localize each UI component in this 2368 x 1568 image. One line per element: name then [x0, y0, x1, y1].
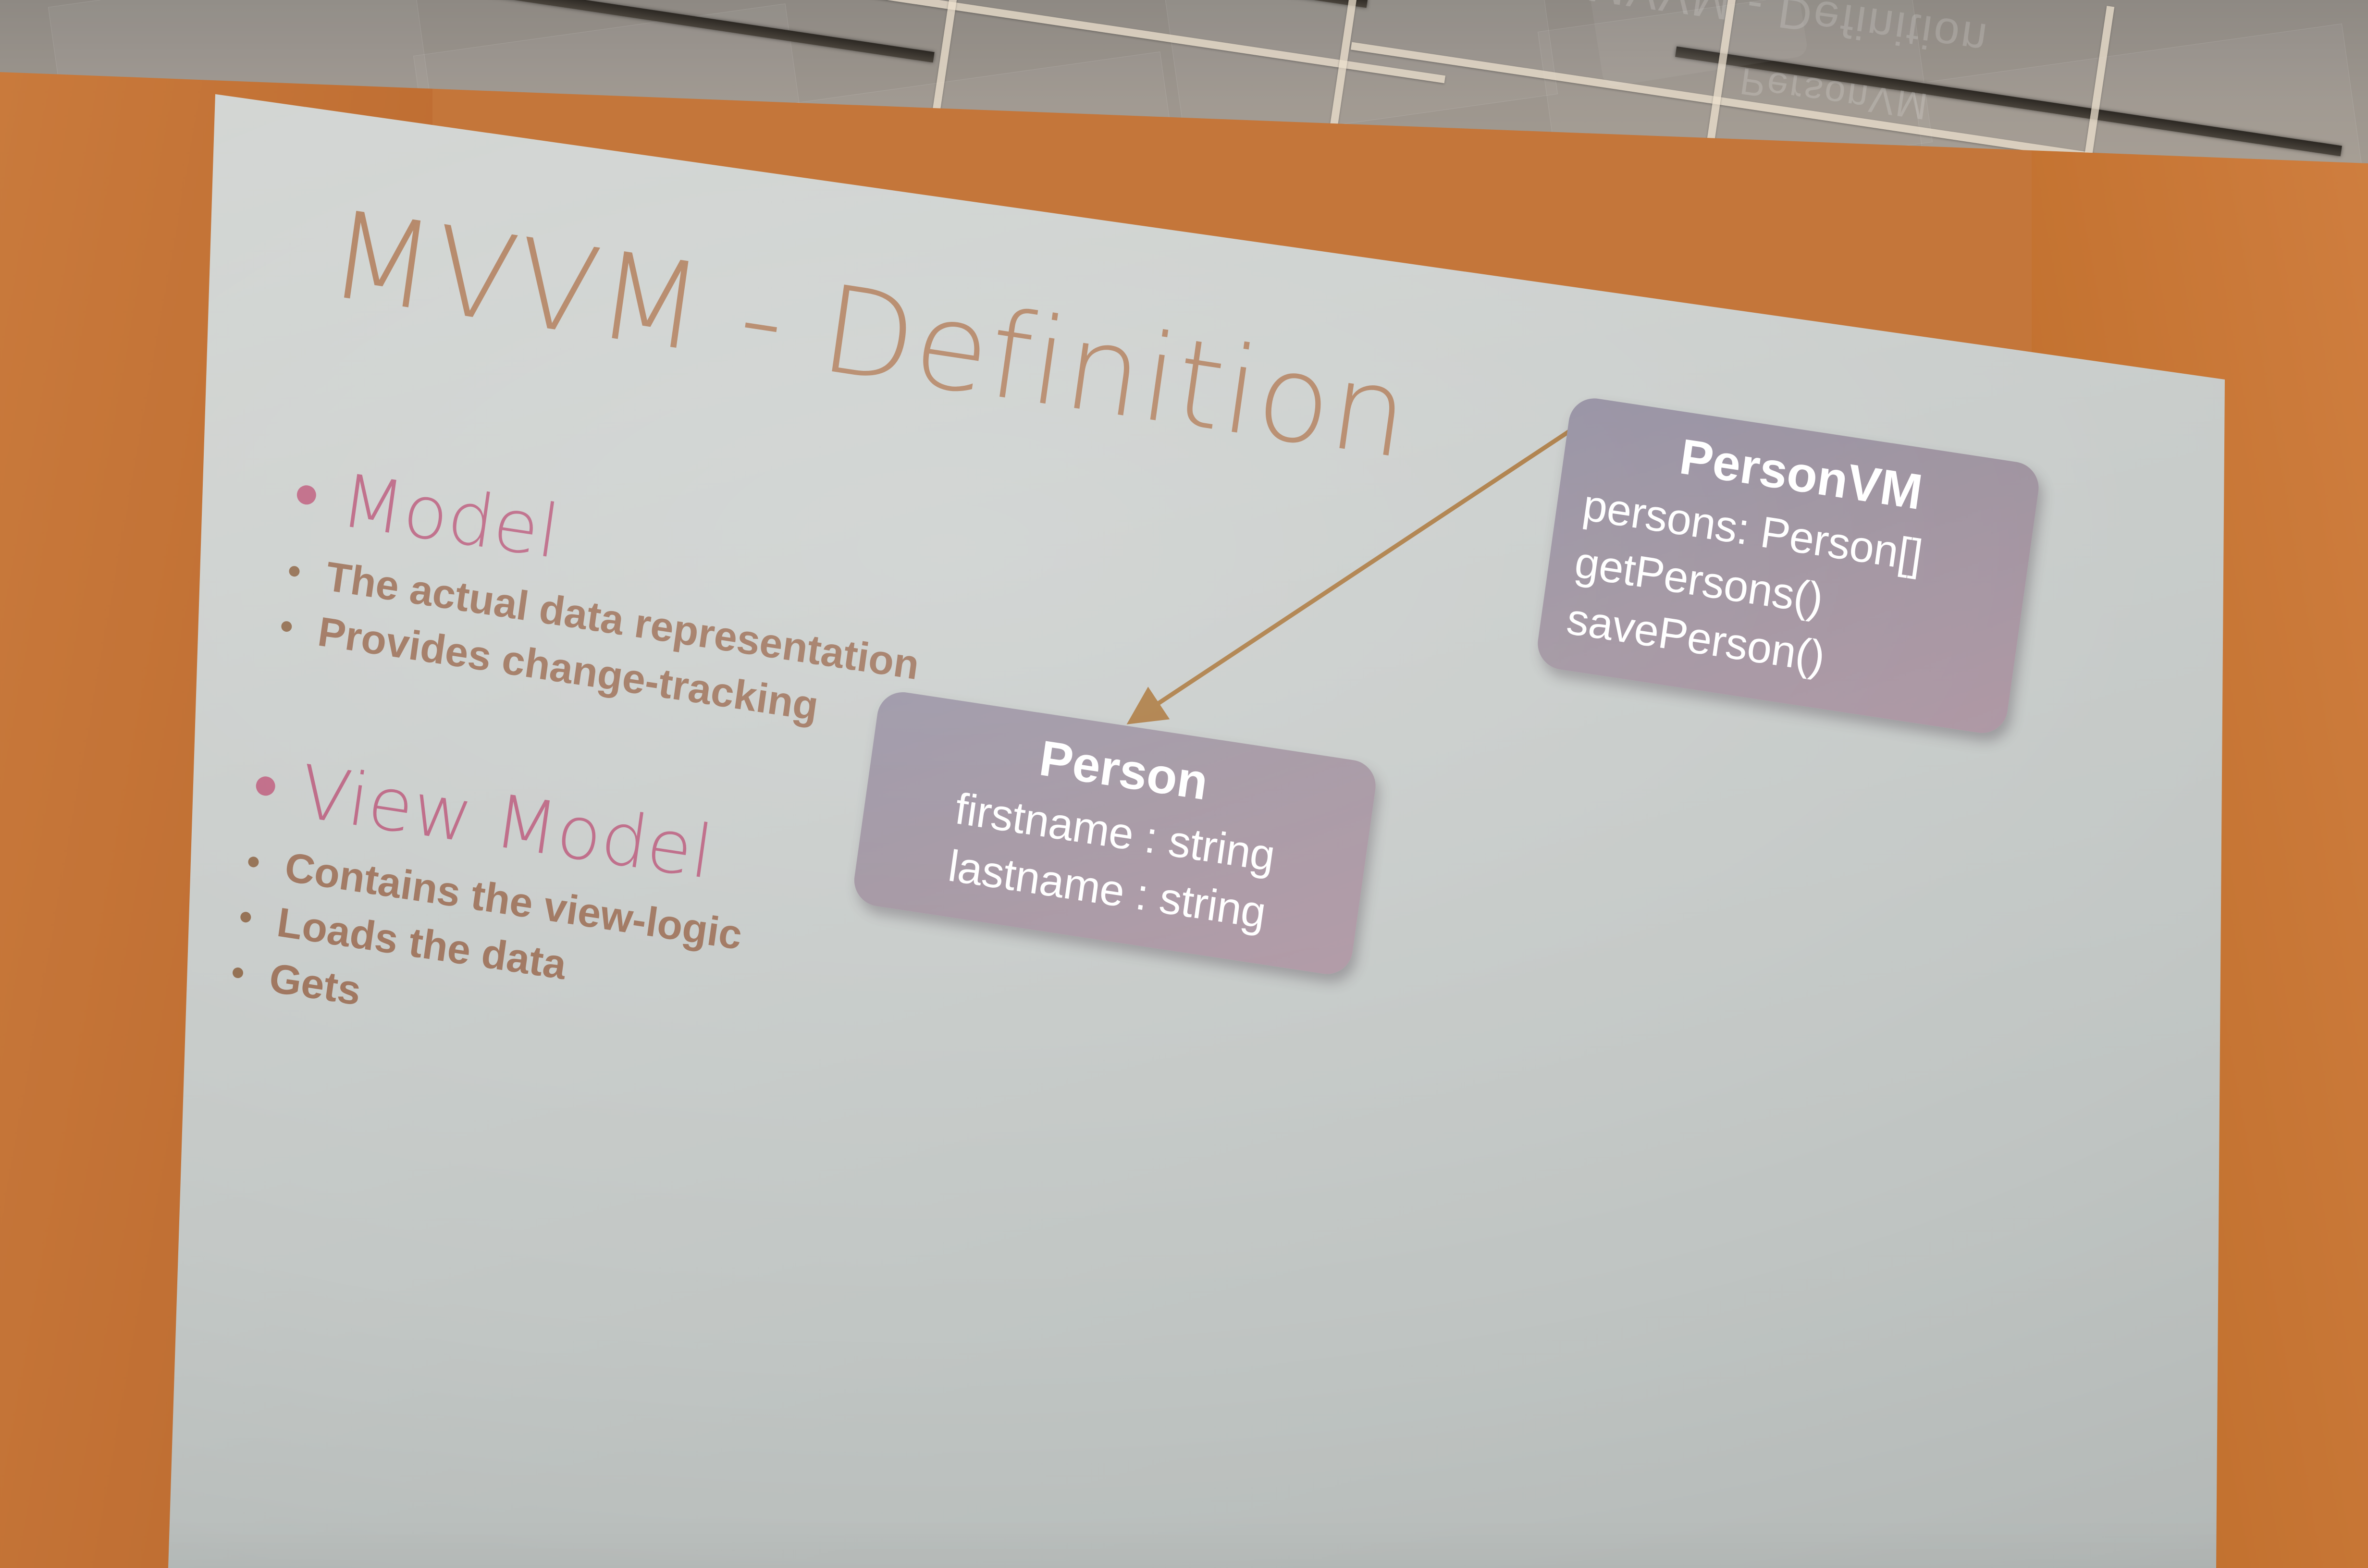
uml-box-personvm: PersonVM persons: Person[] getPersons() …: [1534, 395, 2042, 736]
sub-bullet-dot-icon: [247, 856, 259, 868]
sub-bullet-dot-icon: [232, 967, 244, 979]
bullet-dot-icon: [296, 484, 317, 506]
sub-bullet-dot-icon: [240, 911, 252, 923]
sub-bullet-label: Gets: [266, 951, 364, 1017]
sub-bullet-dot-icon: [281, 620, 293, 632]
slide-content: MVVM - Definition Model The actual data …: [16, 101, 2202, 1568]
ceiling-tile: [1163, 0, 1558, 147]
page-title: MVVM - Definition: [321, 184, 1418, 486]
photo-scene: MVVM - Definition PersonVM MVVM - Defini…: [0, 0, 2368, 1568]
bullet-dot-icon: [255, 775, 276, 797]
sub-bullet-dot-icon: [288, 565, 300, 577]
bullet-model-label: Model: [336, 462, 564, 571]
